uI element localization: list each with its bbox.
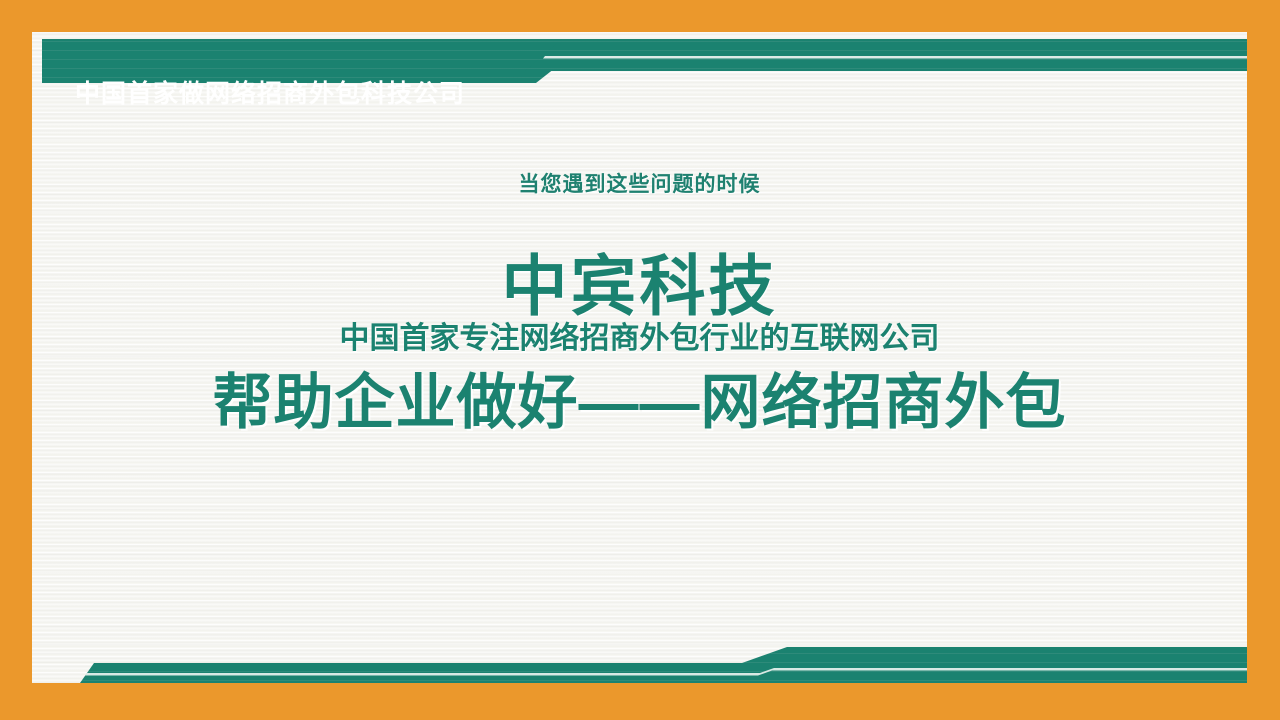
brand-name: 中宾科技: [32, 252, 1247, 321]
header-title: 中国首家做网络招商外包科技公司: [75, 74, 465, 110]
header-banner-right-shape: [525, 39, 1247, 71]
tagline-text: 中国首家专注网络招商外包行业的互联网公司: [32, 313, 1247, 357]
eyebrow-text: 当您遇到这些问题的时候: [32, 168, 1247, 198]
slide-canvas: 中国首家做网络招商外包科技公司 当您遇到这些问题的时候 中宾科技 中国首家专注网…: [32, 32, 1247, 683]
header-banner-rule: [543, 56, 1247, 59]
presentation-slide: 中国首家做网络招商外包科技公司 当您遇到这些问题的时候 中宾科技 中国首家专注网…: [0, 0, 1280, 720]
footer-note: 按效果付费，前期不收任何费用: [825, 676, 1217, 683]
footer-banner-rule: [85, 668, 1247, 676]
headline-text: 帮助企业做好——网络招商外包: [32, 354, 1247, 441]
